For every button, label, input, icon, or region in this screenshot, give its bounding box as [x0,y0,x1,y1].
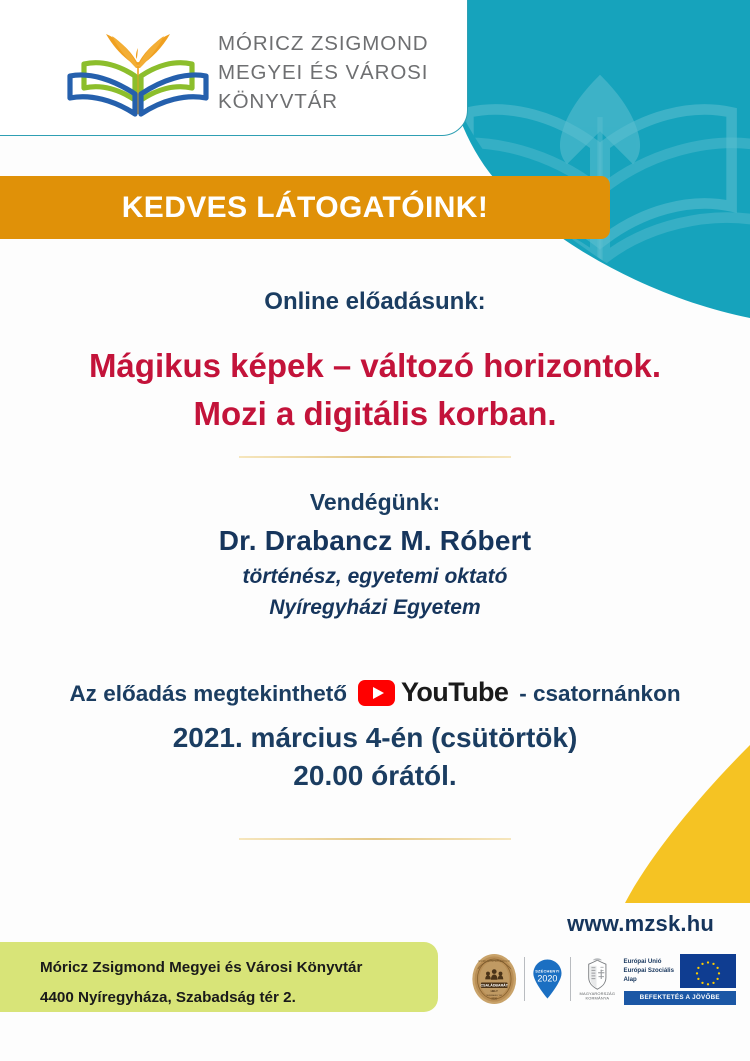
svg-text:CSALÁDBARÁT: CSALÁDBARÁT [481,983,509,988]
guest-organization: Nyíregyházi Egyetem [0,596,750,620]
brand-line-2: MEGYEI ÉS VÁROSI [218,58,429,87]
lecture-title: Mágikus képek – változó horizontok. Mozi… [0,342,750,438]
eu-fund-text: Európai Unió Európai Szociális Alap [624,957,674,984]
address-line-2: 4400 Nyíregyháza, Szabadság tér 2. [40,983,362,1013]
european-union-flag-icon [680,954,736,988]
eu-line-3: Alap [624,975,674,984]
lecture-title-line-1: Mágikus képek – változó horizontok. [0,342,750,390]
address-block: Móricz Zsigmond Megyei és Városi Könyvtá… [40,953,362,1012]
divider-top [239,456,511,458]
coat-label-2: KORMÁNYA [585,996,609,1001]
event-date: 2021. március 4-én (csütörtök) [0,722,750,754]
greeting-banner-text: KEDVES LÁTOGATÓINK! [112,191,489,225]
european-union-block: Európai Unió Európai Szociális Alap [624,954,736,1005]
eu-top-row: Európai Unió Európai Szociális Alap [624,954,736,988]
youtube-wordmark: YouTube [401,677,508,708]
guest-name: Dr. Drabancz M. Róbert [0,525,750,557]
website-url[interactable]: www.mzsk.hu [567,911,714,937]
svg-text:MUNKAHELY DÍJ: MUNKAHELY DÍJ [487,994,502,997]
divider-bottom [239,838,511,840]
broadcast-prefix: Az előadás megtekinthető [69,681,347,707]
event-time: 20.00 órától. [0,760,750,792]
brand-line-3: KÖNYVTÁR [218,87,429,116]
brand-line-1: MÓRICZ ZSIGMOND [218,29,429,58]
eu-line-1: Európai Unió [624,957,674,966]
brand-name: MÓRICZ ZSIGMOND MEGYEI ÉS VÁROSI KÖNYVTÁ… [218,29,429,116]
eu-line-2: Európai Szociális [624,966,674,975]
svg-text:HELY: HELY [491,989,498,993]
guest-label: Vendégünk: [0,489,750,516]
broadcast-suffix: - csatornánkon [519,681,680,707]
youtube-play-icon [358,680,395,706]
open-book-logo [62,18,214,126]
hungary-coat-of-arms-icon: MAGYARORSZÁG KORMÁNYA [577,951,618,1007]
lead-text: Online előadásunk: [0,288,750,316]
svg-text:2020: 2020 [538,973,558,983]
greeting-banner: KEDVES LÁTOGATÓINK! [0,176,610,239]
eu-investment-bar: BEFEKTETÉS A JÖVŐBE [624,991,736,1005]
sponsor-separator-2 [570,957,571,1001]
youtube-logo[interactable]: YouTube [358,677,508,708]
address-line-1: Móricz Zsigmond Megyei és Városi Könyvtá… [40,953,362,983]
sponsor-separator-1 [524,957,525,1001]
svg-text:EMMI MINISZTÉRIUM: EMMI MINISZTÉRIUM [478,960,510,963]
broadcast-row: Az előadás megtekinthető YouTube - csato… [0,678,750,709]
csaladbarat-hely-medal-icon: CSALÁDBARÁT HELY MUNKAHELY DÍJ 2020 EMMI… [470,946,518,1012]
guest-role: történész, egyetemi oktató [0,565,750,589]
szechenyi-2020-pin-icon: SZÉCHENYI 2020 [531,951,564,1007]
svg-text:2020: 2020 [491,997,497,1000]
sponsor-logos: CSALÁDBARÁT HELY MUNKAHELY DÍJ 2020 EMMI… [470,943,736,1015]
lecture-title-line-2: Mozi a digitális korban. [0,390,750,438]
poster-canvas: MÓRICZ ZSIGMOND MEGYEI ÉS VÁROSI KÖNYVTÁ… [0,0,750,1061]
